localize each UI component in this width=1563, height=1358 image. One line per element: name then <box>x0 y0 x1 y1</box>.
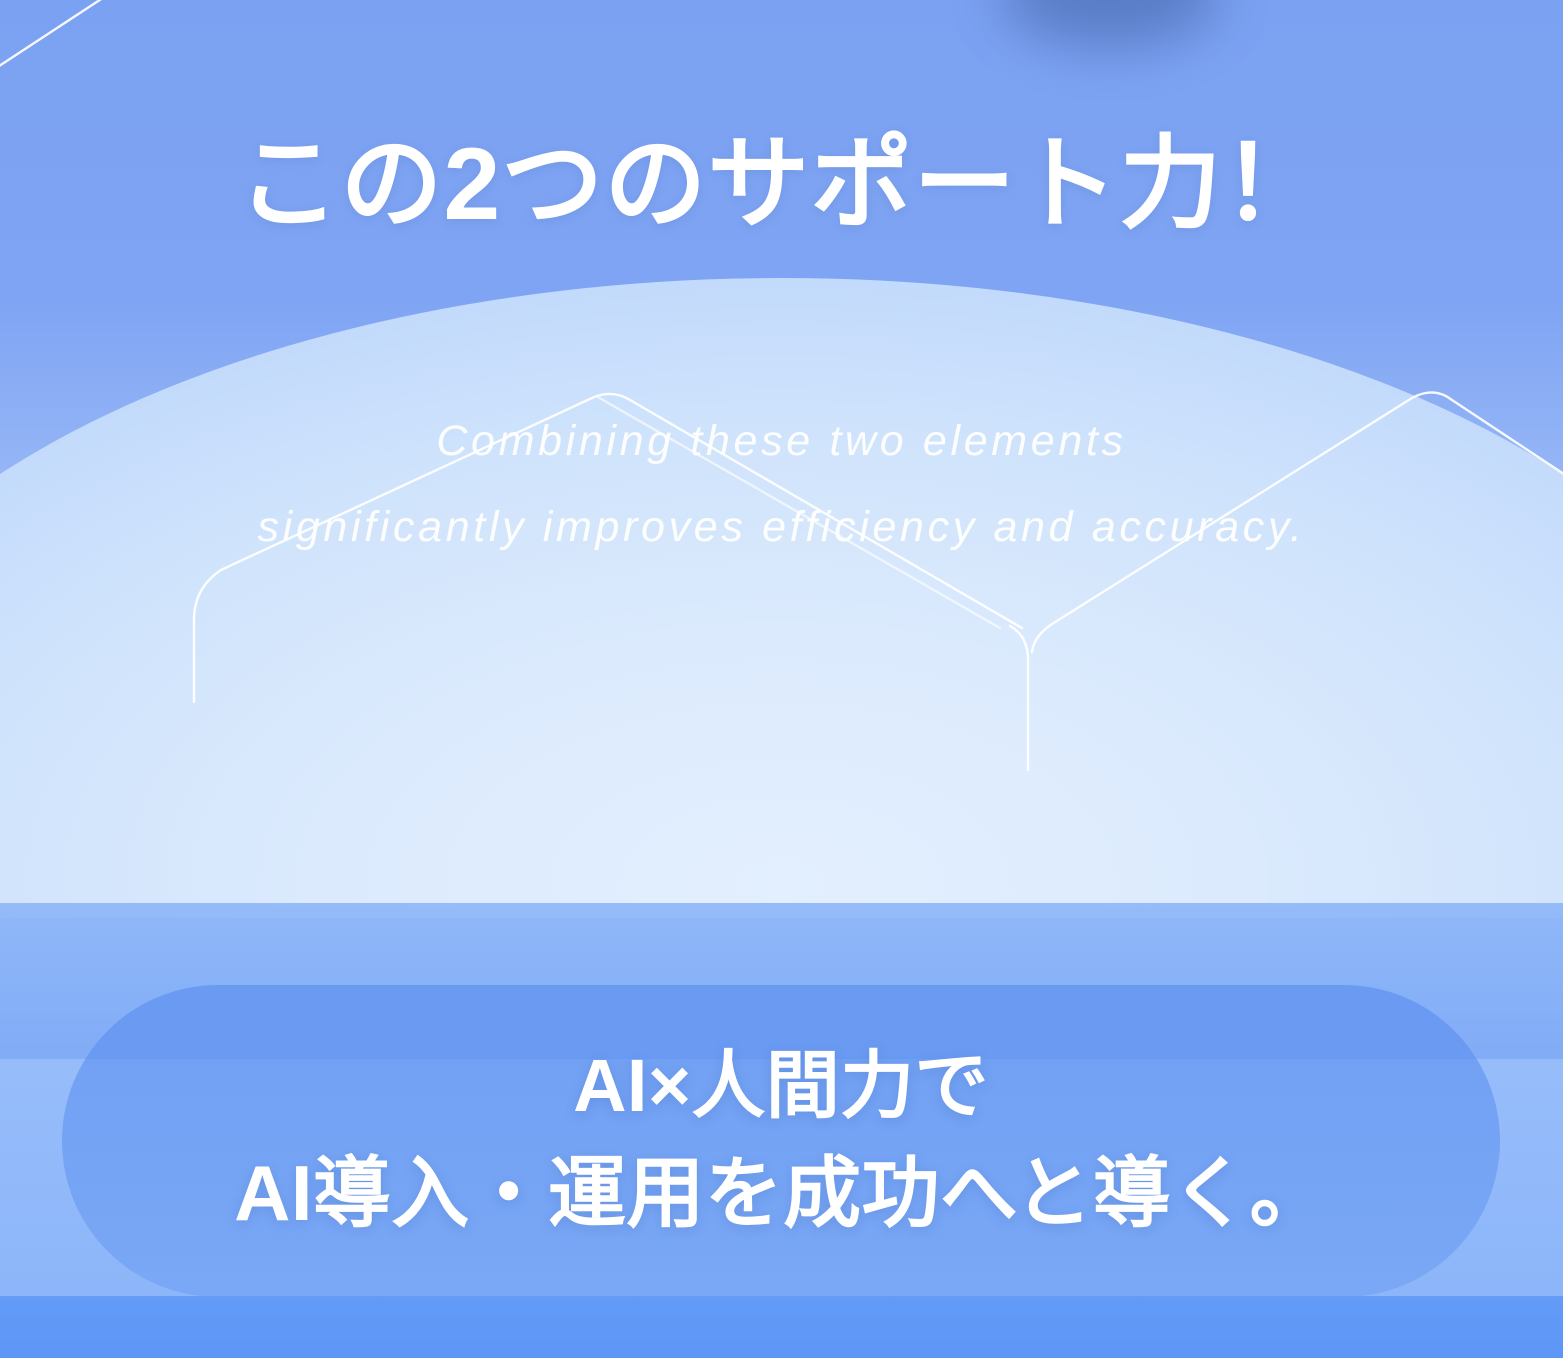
highlight-pill: AI×人間力で AI導入・運用を成功へと導く。 <box>62 985 1500 1297</box>
pill-line-2: AI導入・運用を成功へと導く。 <box>234 1138 1328 1249</box>
pill-message: AI×人間力で AI導入・運用を成功へと導く。 <box>234 1033 1328 1249</box>
background-band-bottom <box>0 1297 1563 1358</box>
subheading-line-1: Combining these two elements <box>0 398 1563 484</box>
subheading: Combining these two elements significant… <box>0 398 1563 570</box>
subheading-line-2: significantly improves efficiency and ac… <box>0 484 1563 570</box>
promo-banner: この2つのサポート力！ Combining these two elements… <box>0 0 1563 1358</box>
pill-line-1: AI×人間力で <box>234 1033 1328 1138</box>
page-title: この2つのサポート力！ <box>0 128 1563 240</box>
